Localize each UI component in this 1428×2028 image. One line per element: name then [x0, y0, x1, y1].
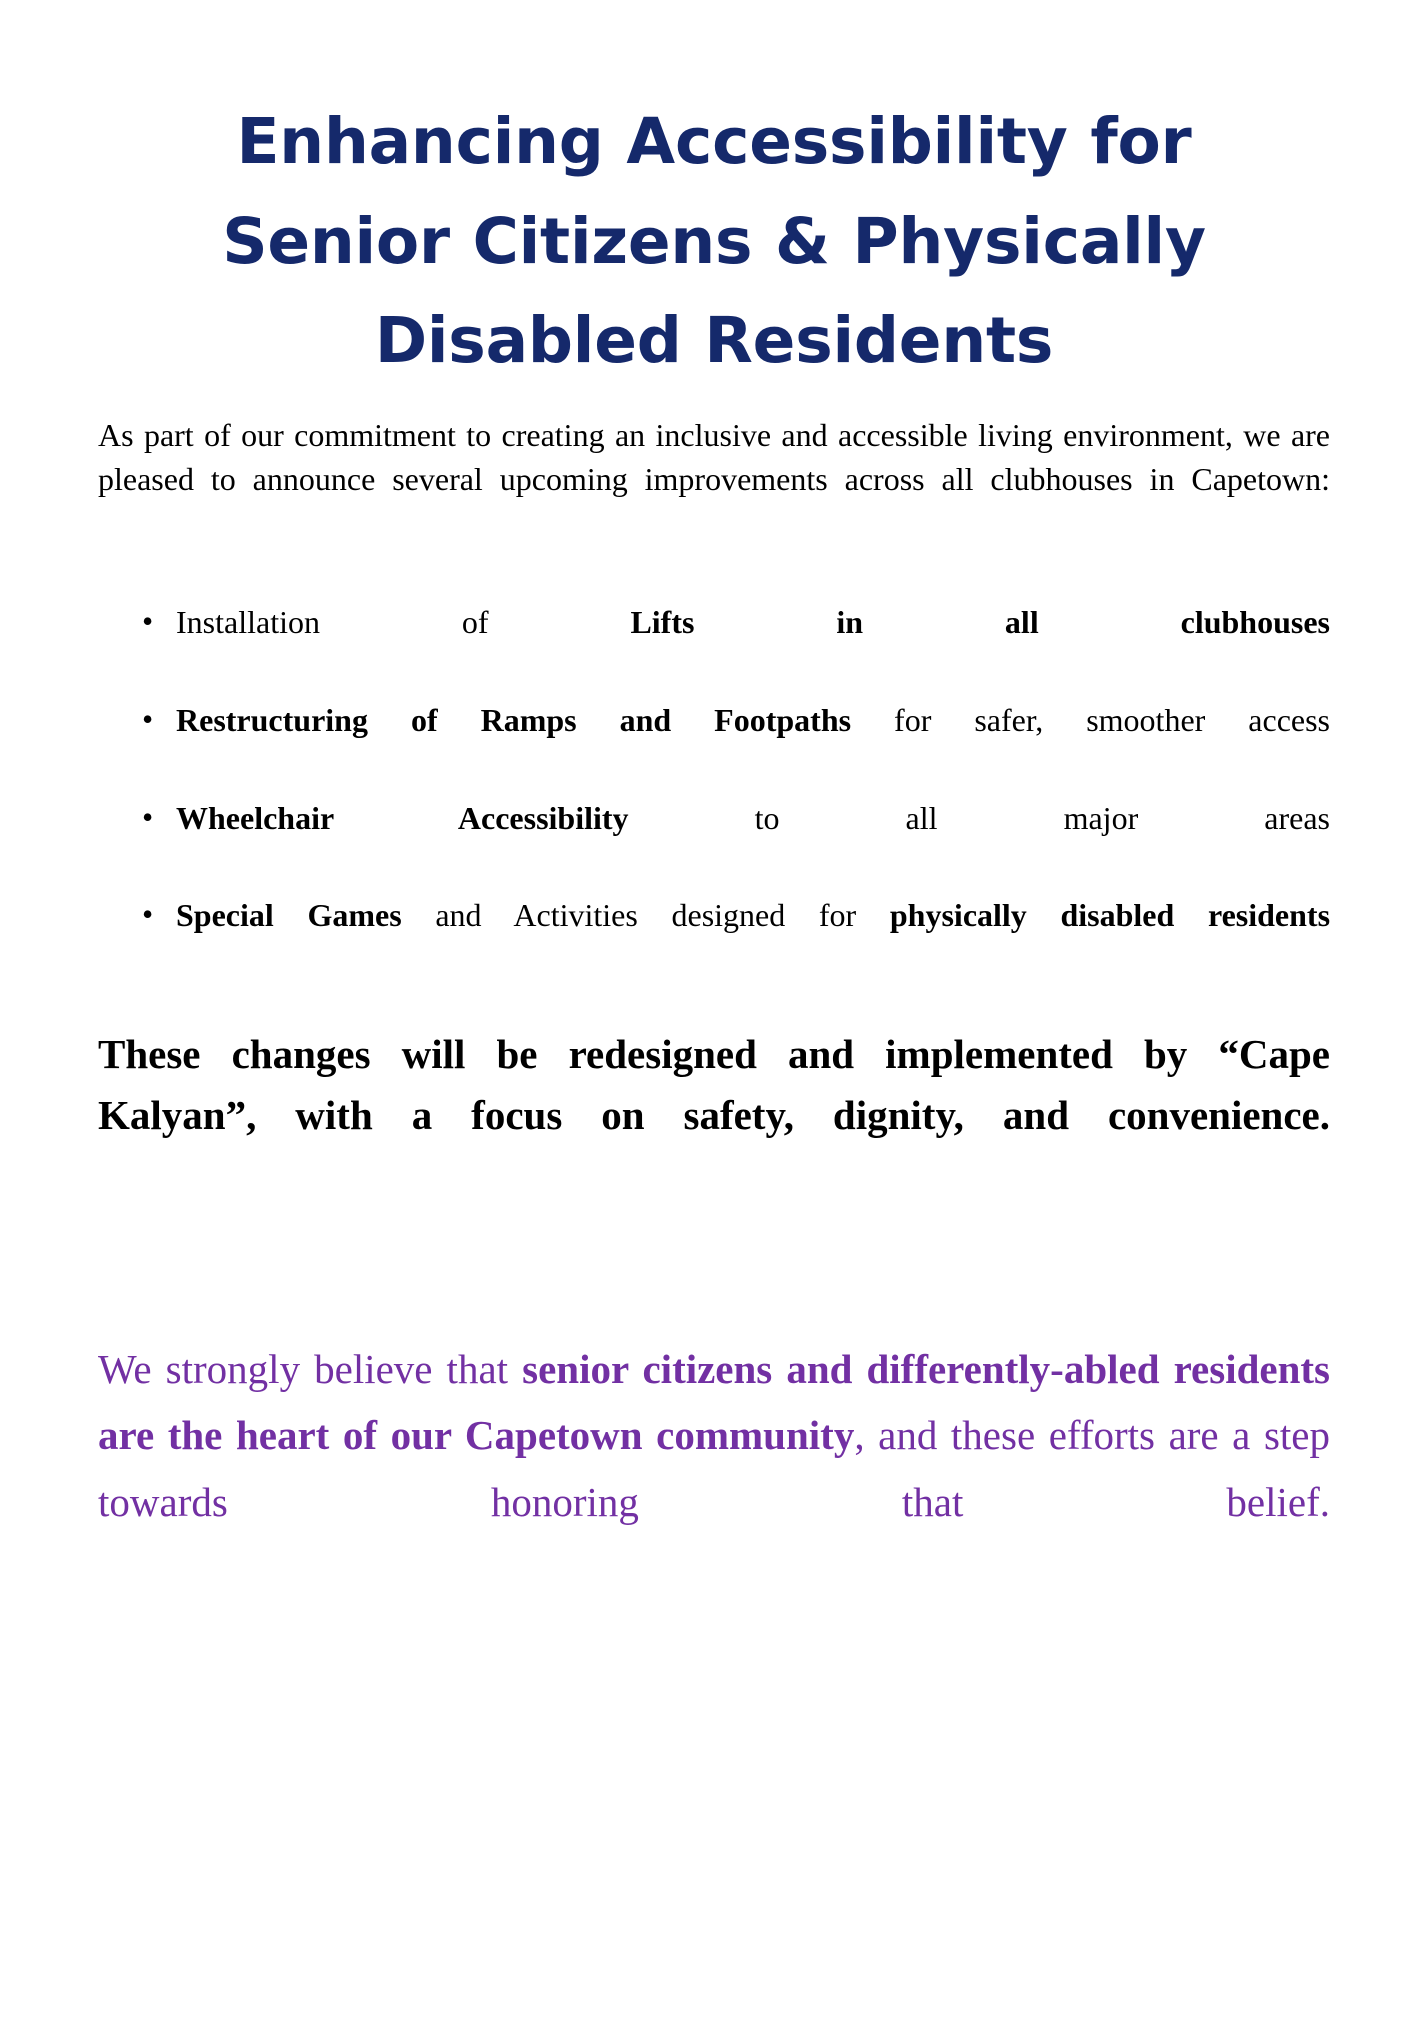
intro-paragraph: As part of our commitment to creating an… [98, 391, 1330, 545]
list-item: Installation of Lifts in all clubhouses [98, 599, 1330, 694]
improvements-list: Installation of Lifts in all clubhouses … [98, 545, 1330, 987]
list-item-bold-run-0: Special Games [176, 897, 402, 933]
document-page: Enhancing Accessibility for Senior Citiz… [0, 0, 1428, 2028]
list-item-run-1: to all major areas [629, 800, 1330, 836]
list-item: Wheelchair Accessibility to all major ar… [98, 795, 1330, 890]
list-item-bold-run-1: Lifts in all clubhouses [630, 604, 1330, 640]
list-item-run-0: Installation of [176, 604, 630, 640]
page-title-line-1: Enhancing Accessibility for [98, 92, 1330, 192]
list-item-bold-run-0: Restructuring of Ramps and Footpaths [176, 702, 851, 738]
page-title-line-3: Disabled Residents [98, 291, 1330, 391]
list-item: Restructuring of Ramps and Footpaths for… [98, 697, 1330, 792]
closing-paragraph-run-0: We strongly believe that [98, 1346, 522, 1392]
list-item-run-1: for safer, smoother access [851, 702, 1330, 738]
page-title-line-2: Senior Citizens & Physically [98, 192, 1330, 292]
page-title: Enhancing Accessibility for Senior Citiz… [98, 0, 1330, 391]
emphasis-paragraph: These changes will be redesigned and imp… [98, 990, 1330, 1206]
list-item-bold-run-0: Wheelchair Accessibility [176, 800, 629, 836]
list-item: Special Games and Activities designed fo… [98, 892, 1330, 987]
list-item-bold-run-2: physically disabled residents [890, 897, 1330, 933]
list-item-run-1: and Activities designed for [402, 897, 890, 933]
closing-paragraph: We strongly believe that senior citizens… [98, 1206, 1330, 1602]
